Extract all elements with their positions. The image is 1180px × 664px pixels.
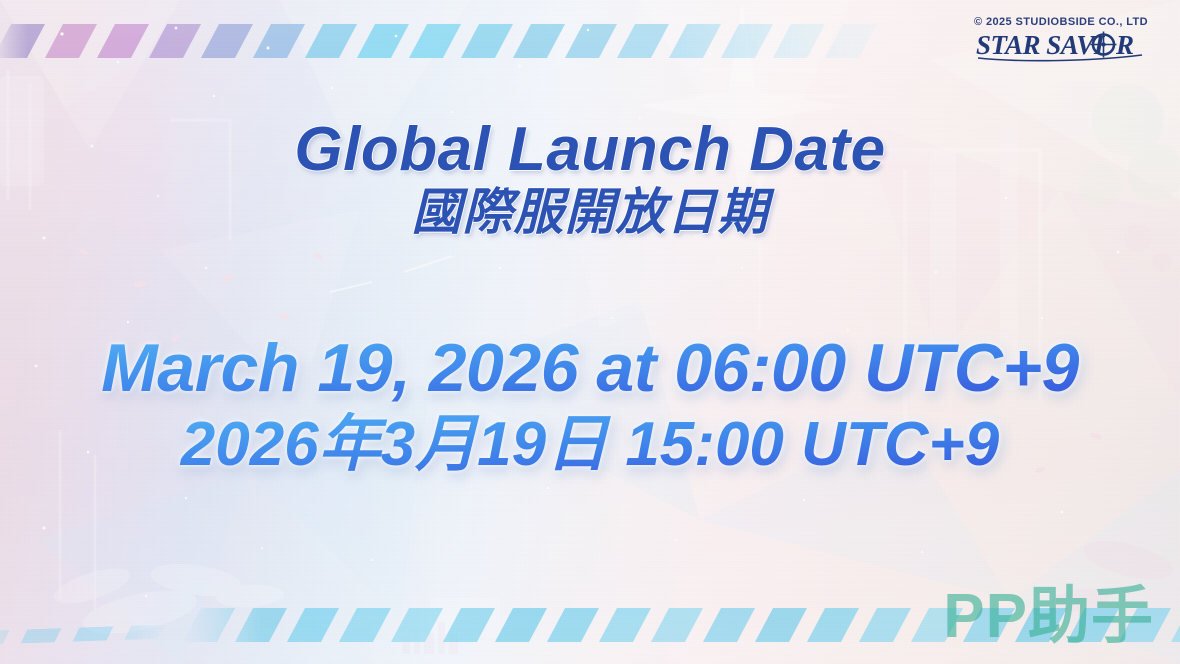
launch-announcement-banner: © 2025 STUDIOBSIDE CO., LTD STAR SAVI R … — [0, 0, 1180, 664]
star-savior-wordmark: STAR SAVI R — [974, 29, 1148, 68]
star-savior-logo: © 2025 STUDIOBSIDE CO., LTD STAR SAVI R — [974, 16, 1148, 68]
launch-date-line-en: March 19, 2026 at 06:00 UTC+9 — [0, 332, 1180, 404]
headline-title-en: Global Launch Date — [0, 118, 1180, 181]
pp-assistant-watermark: PP助手 — [943, 586, 1154, 648]
launch-date-group: March 19, 2026 at 06:00 UTC+9 2026年3月19日… — [0, 332, 1180, 478]
headline-title-zh: 國際服開放日期 — [0, 187, 1180, 238]
copyright-text: © 2025 STUDIOBSIDE CO., LTD — [974, 16, 1148, 28]
svg-text:STAR SAVI: STAR SAVI — [976, 30, 1106, 60]
headline-group: Global Launch Date 國際服開放日期 — [0, 118, 1180, 238]
launch-date-line-zh: 2026年3月19日 15:00 UTC+9 — [0, 412, 1180, 478]
